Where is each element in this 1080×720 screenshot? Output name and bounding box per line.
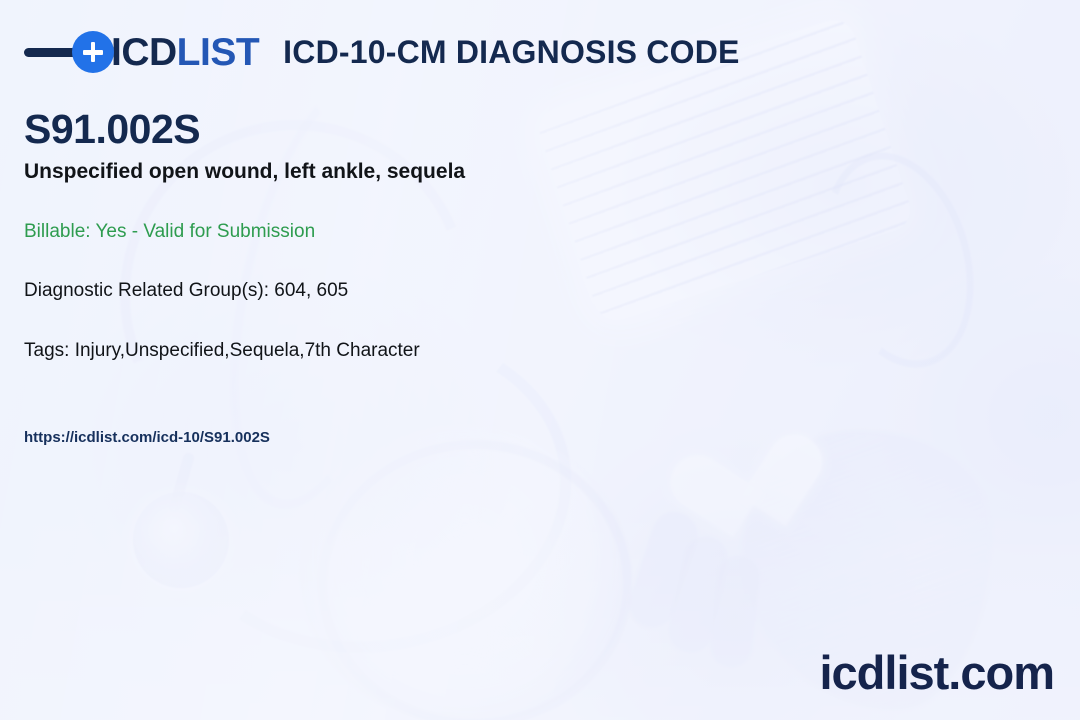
heart-icon [662,442,790,570]
page-header: ICDLIST ICD-10-CM DIAGNOSIS CODE [0,22,1080,82]
finger-icon [664,533,732,658]
dash-icon [24,48,78,57]
plus-icon [72,31,114,73]
logo-word-list: LIST [177,31,260,74]
medical-dish-ring-icon [318,440,632,720]
logo-wordmark: ICDLIST [111,33,259,72]
diagnosis-code: S91.002S [24,108,1024,151]
code-details: S91.002S Unspecified open wound, left an… [24,108,1024,447]
finger-icon [708,554,761,670]
icdlist-logo[interactable]: ICDLIST [24,31,259,73]
logo-word-icd: ICD [111,31,177,74]
billable-status: Billable: Yes - Valid for Submission [24,221,1024,244]
finger-icon [623,506,704,634]
medical-dish-icon [300,425,630,720]
source-url[interactable]: https://icdlist.com/icd-10/S91.002S [24,429,1024,447]
code-tags: Tags: Injury,Unspecified,Sequela,7th Cha… [24,340,1024,363]
diagnosis-description: Unspecified open wound, left ankle, sequ… [24,159,1024,184]
stethoscope-stem-icon [168,452,196,515]
icd-code-card: ICDLIST ICD-10-CM DIAGNOSIS CODE S91.002… [0,0,1080,720]
stethoscope-chestpiece-icon [133,492,229,588]
page-title: ICD-10-CM DIAGNOSIS CODE [283,36,739,68]
footer-brand: icdlist.com [819,649,1054,696]
diagnostic-related-groups: Diagnostic Related Group(s): 604, 605 [24,280,1024,303]
